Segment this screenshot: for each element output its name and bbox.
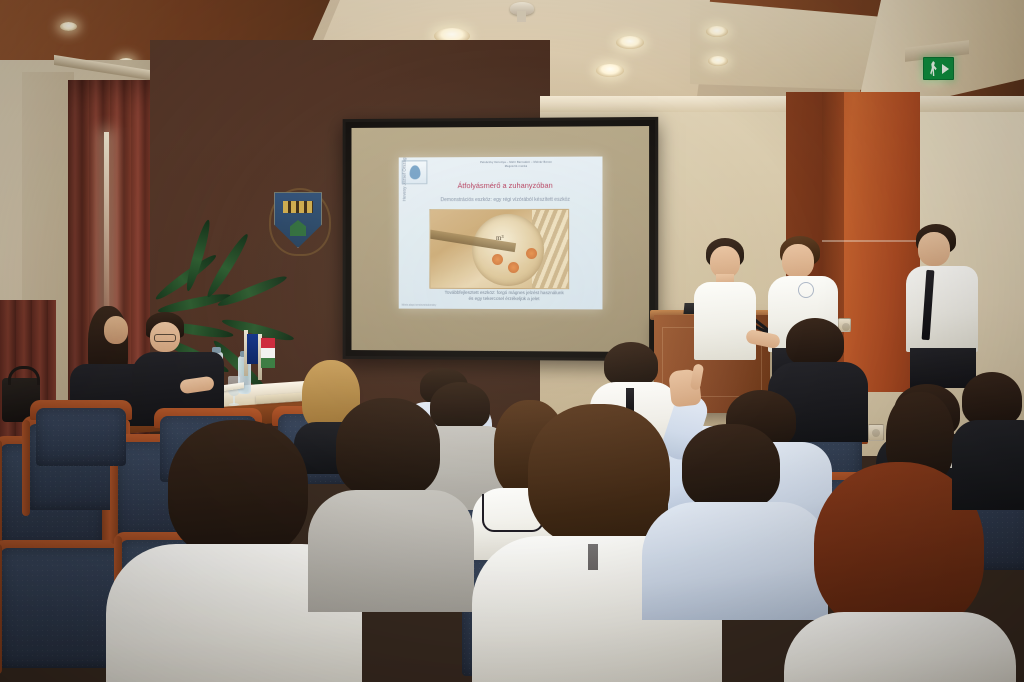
shirt-badge	[798, 282, 814, 298]
slide-footer-line2: és egy tekerccsel érzékeljük a jelet	[409, 296, 601, 303]
slide-title: Átfolyásmérő a zuhanyzóban	[413, 181, 599, 191]
glass-foot	[229, 403, 239, 406]
audience-member-grey-suit	[308, 398, 474, 598]
collar-line	[588, 544, 598, 570]
downlight-icon	[706, 26, 728, 37]
slide-photo-watermeter: m³	[429, 209, 569, 289]
downlight-icon	[60, 22, 77, 31]
chair-rail	[0, 544, 2, 674]
chair-rail	[0, 440, 2, 554]
hair	[786, 318, 844, 366]
running-man-icon	[930, 61, 937, 76]
slide-side-label: Hevesy József Országos Verseny	[402, 157, 407, 202]
projection-screen: Pelsőczky Dorottya – Mohr Bernadett – Mo…	[343, 117, 659, 361]
presenter-3	[906, 224, 980, 384]
hair	[682, 424, 780, 510]
crest-books-icon	[283, 201, 313, 213]
top	[952, 420, 1024, 510]
hair	[168, 420, 308, 558]
meter-pointer	[492, 254, 503, 265]
smoke-detector-icon	[510, 2, 534, 15]
wall-cornice	[540, 96, 1024, 112]
chair-rail	[22, 420, 30, 516]
droplet-icon	[410, 165, 421, 179]
audience-member-far-right	[952, 372, 1024, 502]
index-finger	[690, 363, 704, 390]
jury-member-2	[132, 312, 222, 416]
hungarian-flag	[261, 338, 275, 368]
meter-unit-label: m³	[496, 234, 504, 242]
face	[782, 244, 814, 278]
meter-pointer	[508, 262, 519, 273]
meter-pointer	[526, 248, 537, 259]
desk-flag-hungary	[258, 334, 262, 380]
slide-byline-subtitle: Megosztó munka	[438, 165, 594, 170]
hair	[962, 372, 1022, 426]
presentation-slide: Pelsőczky Dorottya – Mohr Bernadett – Mo…	[399, 157, 603, 310]
conference-hall-photo: Pelsőczky Dorottya – Mohr Bernadett – Mo…	[0, 0, 1024, 682]
top	[784, 612, 1016, 682]
face	[918, 232, 950, 266]
slide-footer: Továbbfejlesztett eszköz: forgó mágnes j…	[409, 290, 601, 303]
eyeglasses-icon	[154, 334, 176, 342]
face	[104, 316, 128, 344]
shirt	[694, 282, 756, 360]
downlight-icon	[596, 64, 624, 77]
shirt	[906, 266, 978, 352]
emergency-exit-sign	[923, 57, 954, 80]
screen-surface: Pelsőczky Dorottya – Mohr Bernadett – Mo…	[351, 126, 649, 352]
arrow-right-icon	[942, 64, 949, 74]
desk-flag-eu	[244, 330, 248, 376]
institutional-crest	[274, 192, 322, 248]
slide-byline: Pelsőczky Dorottya – Mohr Bernadett – Mo…	[438, 161, 594, 170]
hair	[336, 398, 440, 498]
slide-tiny-note: Mérés alapú természettudomány	[402, 304, 436, 307]
jacket	[308, 490, 474, 612]
bag-handle	[8, 366, 40, 385]
downlight-icon	[708, 56, 728, 66]
slide-subtitle: Demonstrációs eszköz: egy régi vízórából…	[413, 197, 599, 203]
downlight-icon	[616, 36, 644, 49]
